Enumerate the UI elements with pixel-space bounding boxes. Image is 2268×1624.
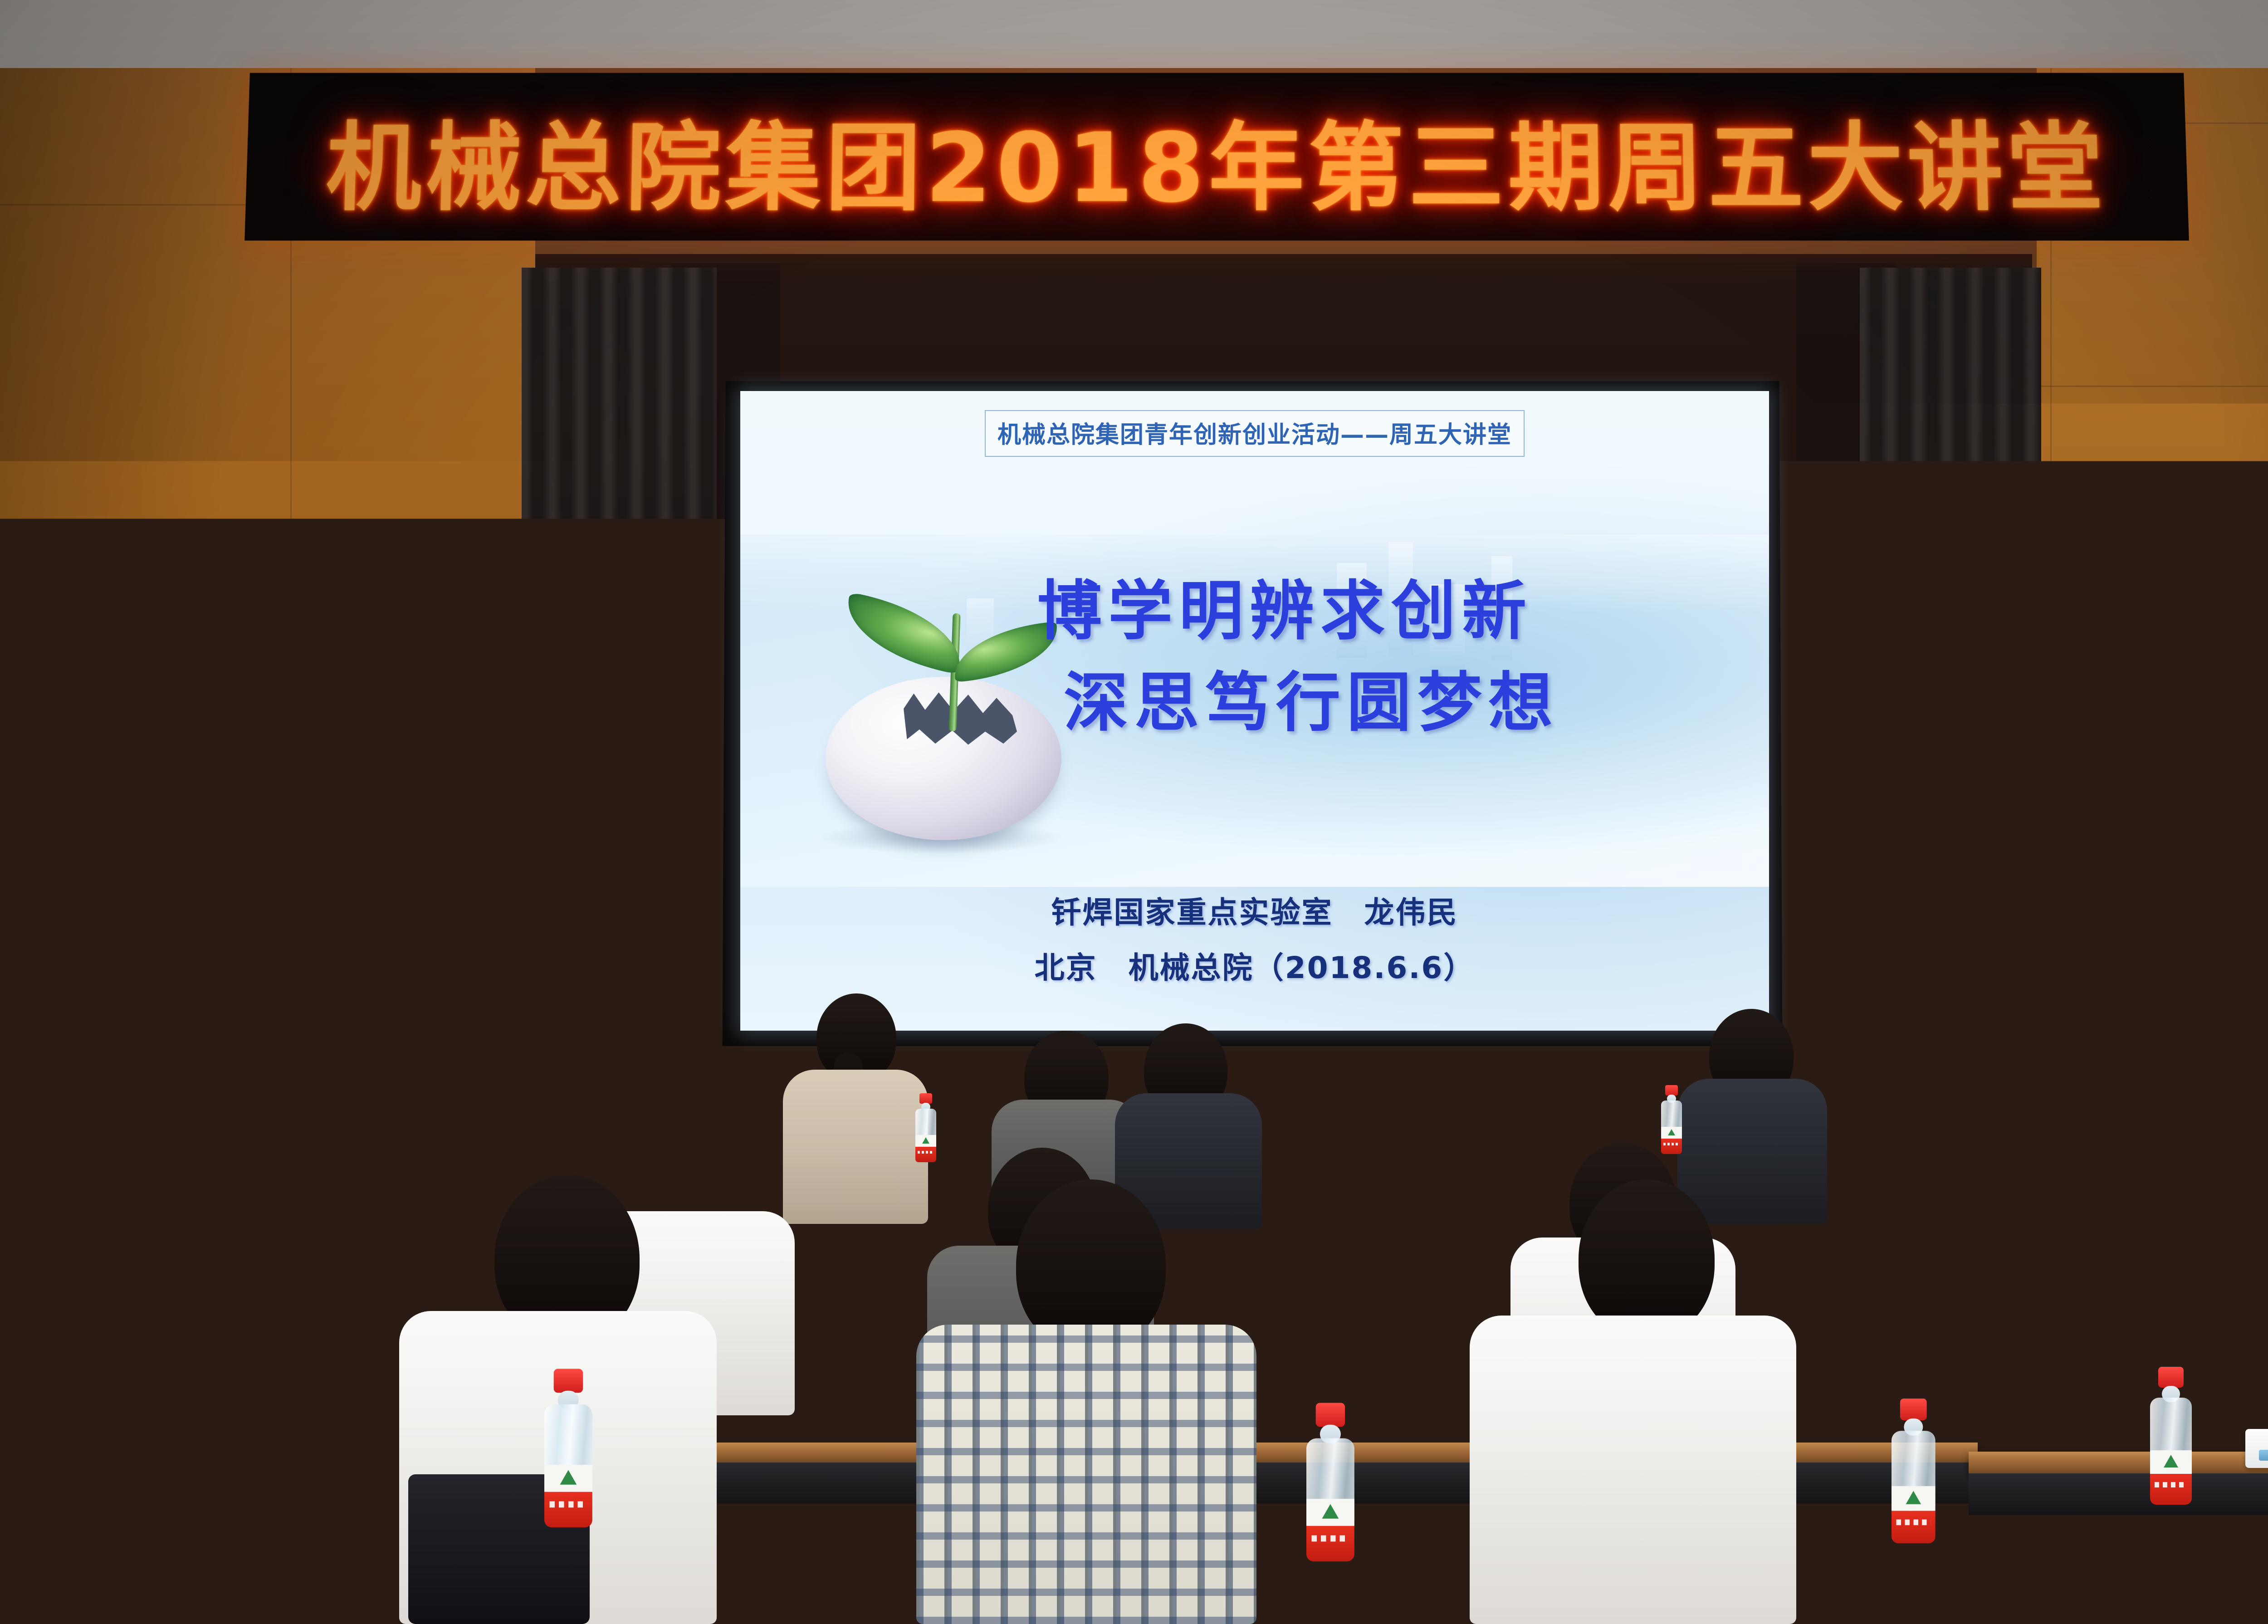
- water-bottle: [1371, 1088, 1392, 1157]
- slide-header-text: 机械总院集团青年创新创业活动——周五大讲堂: [997, 421, 1512, 449]
- person-body: [1677, 1079, 1827, 1224]
- person-body: [2086, 1097, 2256, 1254]
- microphone-led-left: [514, 816, 524, 826]
- ptz-camera-icon: [1892, 742, 1943, 784]
- slide-footer-line-2: 北京 机械总院（2018.6.6）: [740, 944, 1769, 987]
- water-bottle: [1892, 1399, 1936, 1543]
- water-bottle: [27, 1110, 48, 1179]
- water-bottle: [1470, 1228, 1498, 1321]
- slide-title-line-2: 深思笃行圆梦想: [1037, 657, 1745, 749]
- speaker-hand: [641, 934, 665, 960]
- chair[interactable]: [1851, 1189, 2005, 1270]
- person-body: [1470, 1316, 1796, 1624]
- water-bottle: [1887, 1210, 1915, 1303]
- tissue-box: [2245, 1429, 2268, 1468]
- wall-seam: [2037, 386, 2268, 387]
- water-bottle: [1661, 1085, 1682, 1154]
- person-body: [783, 1070, 928, 1224]
- slide-header-box: 机械总院集团青年创新创业活动——周五大讲堂: [985, 410, 1525, 457]
- podium-laptop: [512, 841, 609, 887]
- wall-seam: [0, 563, 535, 564]
- left-wood-wall: [0, 68, 535, 1293]
- wall-seam: [290, 68, 292, 1293]
- desk-front-panel: [1887, 1334, 2268, 1369]
- water-bottle: [1442, 1088, 1462, 1157]
- person-head: [1579, 1179, 1715, 1338]
- led-banner-text: 机械总院集团2018年第三期周五大讲堂: [245, 91, 2189, 229]
- microphone-led-right: [571, 814, 581, 824]
- sprout-leaf-left: [838, 592, 970, 674]
- desk-middle-right: [1887, 1316, 2268, 1335]
- glasses-icon: [566, 777, 611, 786]
- camera-base: [1892, 768, 1943, 784]
- person-body: [2253, 1148, 2268, 1311]
- slide-title-line-1: 博学明辨求创新: [1037, 566, 1745, 657]
- red-bag: [2096, 1488, 2268, 1624]
- led-banner: 机械总院集团2018年第三期周五大讲堂: [244, 73, 2189, 241]
- slide-footer-line-1: 钎焊国家重点实验室 龙伟民: [740, 888, 1769, 932]
- camera-lens: [1908, 746, 1928, 766]
- slide-footer: 钎焊国家重点实验室 龙伟民 北京 机械总院（2018.6.6）: [740, 876, 1769, 999]
- person-body: [916, 1325, 1256, 1624]
- podium: [458, 890, 634, 1022]
- water-bottle: [2150, 1367, 2192, 1505]
- water-bottle: [1306, 1403, 1354, 1561]
- person-body: [0, 1365, 272, 1624]
- slide-title: 博学明辨求创新 深思笃行圆梦想: [1037, 566, 1745, 748]
- chair[interactable]: [1297, 1179, 1452, 1261]
- water-bottle: [544, 1369, 592, 1527]
- water-bottle: [1920, 1092, 1941, 1161]
- lecture-hall-photo: 机械总院集团2018年第三期周五大讲堂 机械总院集团青年创新创业活动——周五大讲…: [0, 0, 2268, 1624]
- podium-top-edge: [454, 884, 639, 898]
- presentation-slide: 机械总院集团青年创新创业活动——周五大讲堂 博学明辨求创新 深思笃行圆梦想 钎焊…: [740, 391, 1769, 1031]
- desk-front-right: [1969, 1452, 2268, 1474]
- wall-seam: [2037, 649, 2268, 650]
- water-bottle: [915, 1093, 936, 1162]
